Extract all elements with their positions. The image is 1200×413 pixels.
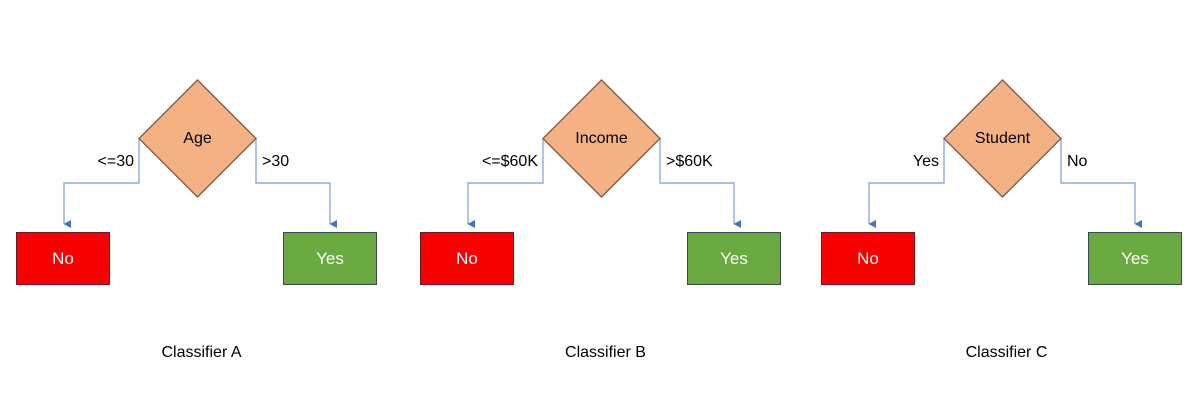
edge-label-left: <=$60K [404,154,538,170]
leaf-node-positive[interactable]: Yes [687,232,781,285]
classifier-tree-c: Student Yes No No Yes Classifier C [805,0,1200,413]
edge-label-left: Yes [805,154,939,170]
decision-node-label: Age [138,79,257,198]
decision-node-b[interactable]: Income [542,79,661,198]
decision-node-c[interactable]: Student [943,79,1062,198]
decision-node-a[interactable]: Age [138,79,257,198]
leaf-node-positive[interactable]: Yes [1088,232,1182,285]
edge-label-right: >30 [262,154,402,170]
classifier-tree-a: Age <=30 >30 No Yes Classifier A [0,0,403,413]
classifier-caption: Classifier A [0,345,403,361]
decision-node-label: Income [542,79,661,198]
edge-label-left: <=30 [0,154,134,170]
leaf-node-positive[interactable]: Yes [283,232,377,285]
classifier-caption: Classifier C [805,345,1200,361]
classifier-caption: Classifier B [404,345,807,361]
decision-tree-diagram: Age <=30 >30 No Yes Classifier A Income … [0,0,1200,413]
decision-node-label: Student [943,79,1062,198]
leaf-node-negative[interactable]: No [420,232,514,285]
classifier-tree-b: Income <=$60K >$60K No Yes Classifier B [404,0,807,413]
edge-label-right: No [1067,154,1200,170]
edge-label-right: >$60K [666,154,806,170]
leaf-node-negative[interactable]: No [16,232,110,285]
leaf-node-negative[interactable]: No [821,232,915,285]
